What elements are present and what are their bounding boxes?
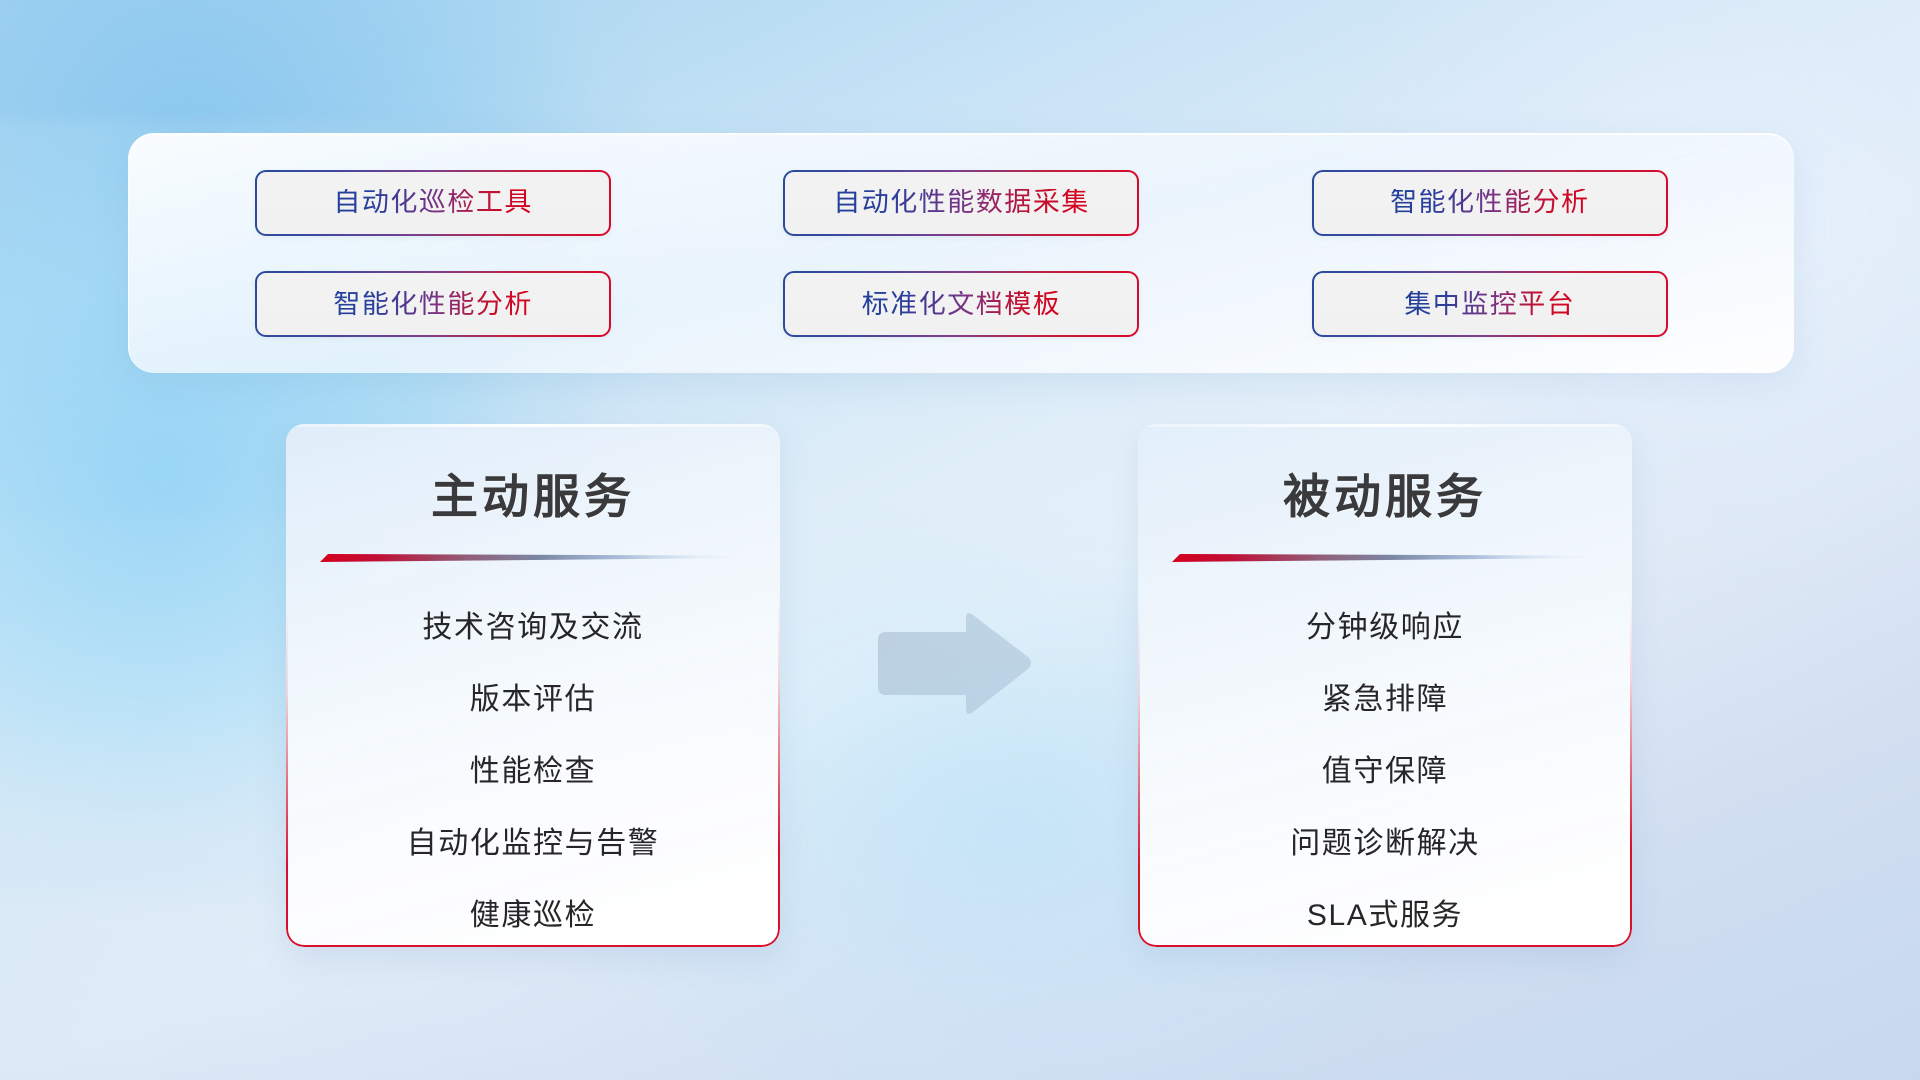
service-list-item: 版本评估 [470, 664, 596, 736]
card-divider-icon [1172, 550, 1598, 564]
capability-chip-label: 集中监控平台 [1404, 291, 1575, 318]
service-list-item: 性能检查 [470, 736, 596, 808]
card-title: 主动服务 [286, 458, 780, 527]
capability-chip-0[interactable]: 自动化巡检工具 [255, 170, 611, 236]
capability-chip-5[interactable]: 集中监控平台 [1312, 271, 1668, 337]
card-divider-icon [320, 550, 746, 564]
capability-chip-grid: 自动化巡检工具 自动化性能数据采集 智能化性能分析 智能化性能分析 标准化文档模… [129, 134, 1794, 373]
capability-chip-label: 智能化性能分析 [1390, 189, 1590, 216]
capability-chip-label: 标准化文档模板 [862, 291, 1062, 318]
capability-chip-label: 智能化性能分析 [333, 291, 533, 318]
capability-panel: 自动化巡检工具 自动化性能数据采集 智能化性能分析 智能化性能分析 标准化文档模… [128, 133, 1794, 373]
service-list-item: SLA式服务 [1307, 880, 1463, 947]
right-arrow-icon [870, 608, 1034, 720]
capability-chip-4[interactable]: 标准化文档模板 [783, 271, 1139, 337]
capability-chip-label: 自动化巡检工具 [333, 189, 533, 216]
capability-chip-label: 自动化性能数据采集 [833, 189, 1090, 216]
capability-chip-3[interactable]: 智能化性能分析 [255, 271, 611, 337]
service-item-list: 技术咨询及交流 版本评估 性能检查 自动化监控与告警 健康巡检 [286, 592, 780, 947]
capability-chip-1[interactable]: 自动化性能数据采集 [783, 170, 1139, 236]
slide-canvas: 自动化巡检工具 自动化性能数据采集 智能化性能分析 智能化性能分析 标准化文档模… [0, 0, 1920, 1080]
service-card-reactive[interactable]: 被动服务 分钟级响应 紧急排障 [1138, 424, 1632, 947]
service-card-proactive[interactable]: 主动服务 技术咨询及交流 版本评估 [286, 424, 780, 947]
service-list-item: 紧急排障 [1322, 664, 1448, 736]
service-list-item: 技术咨询及交流 [422, 592, 643, 664]
card-top-highlight [286, 424, 780, 427]
service-list-item: 自动化监控与告警 [407, 808, 660, 880]
service-list-item: 分钟级响应 [1306, 592, 1464, 664]
service-item-list: 分钟级响应 紧急排障 值守保障 问题诊断解决 SLA式服务 [1138, 592, 1632, 947]
card-title: 被动服务 [1138, 458, 1632, 527]
card-top-highlight [1138, 424, 1632, 427]
service-list-item: 值守保障 [1322, 736, 1448, 808]
capability-chip-2[interactable]: 智能化性能分析 [1312, 170, 1668, 236]
service-list-item: 健康巡检 [470, 880, 596, 947]
service-list-item: 问题诊断解决 [1290, 808, 1480, 880]
